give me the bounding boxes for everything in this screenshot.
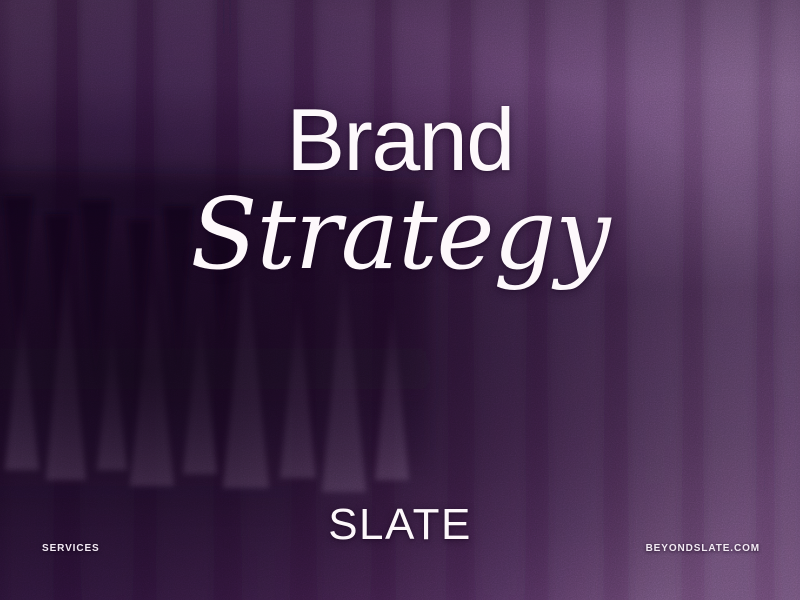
poster-canvas: Brand Strategy SLATE SERVICES BEYONDSLAT… <box>0 0 800 600</box>
title-line-primary: Brand <box>0 96 800 184</box>
page-title: Brand Strategy <box>0 96 800 284</box>
content-layer: Brand Strategy SLATE SERVICES BEYONDSLAT… <box>0 0 800 600</box>
footer-website-url[interactable]: BEYONDSLATE.COM <box>646 543 760 554</box>
title-line-secondary: Strategy <box>0 186 800 284</box>
footer-category-label: SERVICES <box>42 543 100 554</box>
